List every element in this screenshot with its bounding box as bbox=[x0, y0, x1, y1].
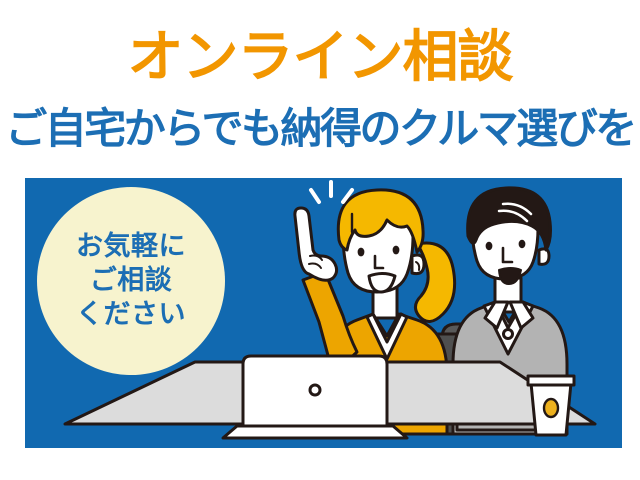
man-eye-right bbox=[519, 240, 526, 248]
sparkle-group bbox=[311, 182, 352, 202]
online-consultation-banner: オンライン相談 ご自宅からでも納得のクルマ選びを bbox=[0, 0, 640, 480]
woman-pointing-hand bbox=[295, 208, 337, 280]
badge-line-1: お気軽に bbox=[76, 230, 186, 264]
coffee-cup-lid bbox=[528, 376, 574, 385]
woman-eye-left bbox=[358, 248, 365, 257]
woman-eye-right bbox=[393, 246, 400, 255]
laptop-base bbox=[223, 426, 407, 438]
badge-line-3: ください bbox=[76, 298, 186, 332]
man-eye-left bbox=[486, 242, 493, 250]
consultation-badge: お気軽に ご相談 ください bbox=[37, 187, 225, 375]
badge-line-2: ご相談 bbox=[90, 264, 173, 298]
page-title: オンライン相談 bbox=[0, 26, 640, 90]
coffee-cup-logo bbox=[544, 399, 558, 417]
sparkle-icon-1 bbox=[311, 190, 319, 202]
man-ear bbox=[539, 249, 549, 264]
man-shirt-button bbox=[504, 330, 513, 339]
page-subtitle: ご自宅からでも納得のクルマ選びを bbox=[0, 104, 640, 154]
woman-ponytail bbox=[415, 243, 454, 322]
laptop-camera-dot bbox=[310, 385, 320, 395]
illustration-panel: お気軽に ご相談 ください bbox=[25, 178, 622, 448]
